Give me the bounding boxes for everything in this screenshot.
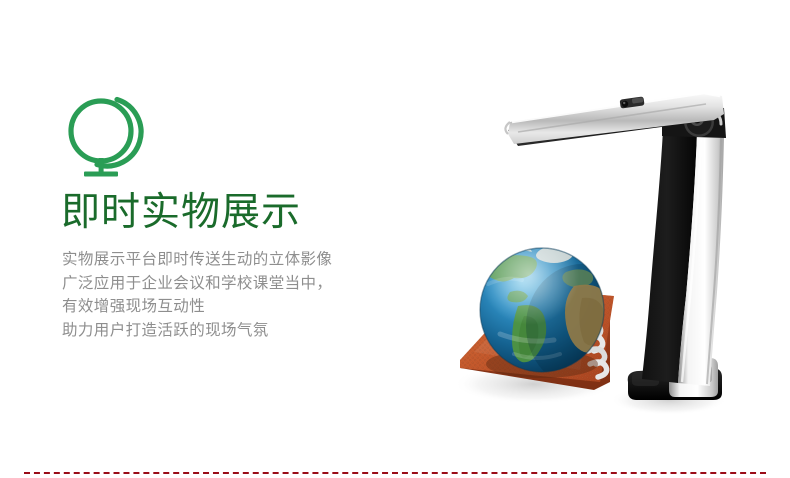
page-title: 即时实物展示 <box>61 190 420 236</box>
description-line: 实物展示平台即时传送生动的立体影像 <box>62 248 420 272</box>
description-text: 实物展示平台即时传送生动的立体影像 广泛应用于企业会议和学校课堂当中， 有效增强… <box>62 248 420 342</box>
description-line: 广泛应用于企业会议和学校课堂当中， <box>62 272 420 296</box>
earth-globe <box>480 242 638 388</box>
left-content-panel: 即时实物展示 实物展示平台即时传送生动的立体影像 广泛应用于企业会议和学校课堂当… <box>60 96 420 342</box>
dashed-divider <box>24 472 766 474</box>
document-camera-photo <box>414 34 754 416</box>
description-line: 助力用户打造活跃的现场气氛 <box>62 319 420 343</box>
promo-banner: 即时实物展示 实物展示平台即时传送生动的立体影像 广泛应用于企业会议和学校课堂当… <box>0 0 790 478</box>
product-illustration <box>414 34 754 416</box>
globe-icon <box>62 96 158 182</box>
description-line: 有效增强现场互动性 <box>62 295 420 319</box>
